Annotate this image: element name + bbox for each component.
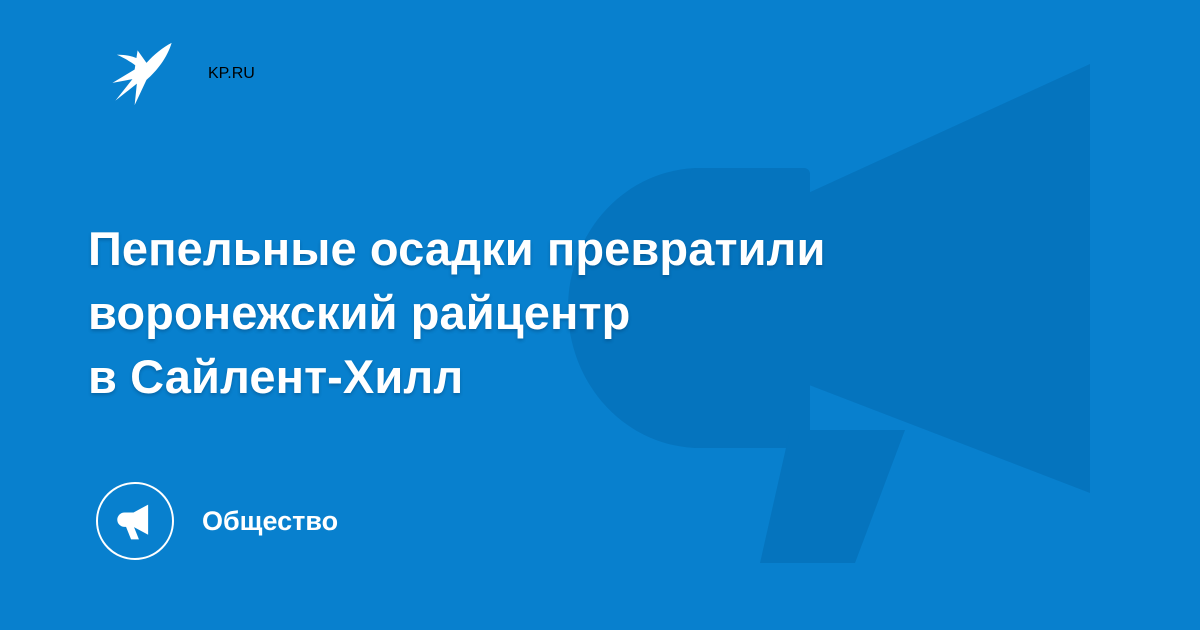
category-badge[interactable]: Общество [96, 479, 338, 563]
swallow-bird-icon [108, 37, 182, 111]
social-share-card: KP.RU Пепельные осадки превратили вороне… [0, 0, 1200, 630]
megaphone-icon [114, 500, 156, 542]
brand-logo[interactable]: KP.RU [108, 36, 255, 112]
page-title: Пепельные осадки превратили воронежский … [88, 217, 1048, 409]
category-icon-circle [96, 482, 174, 560]
category-label: Общество [202, 508, 338, 535]
brand-name: KP.RU [208, 65, 255, 83]
